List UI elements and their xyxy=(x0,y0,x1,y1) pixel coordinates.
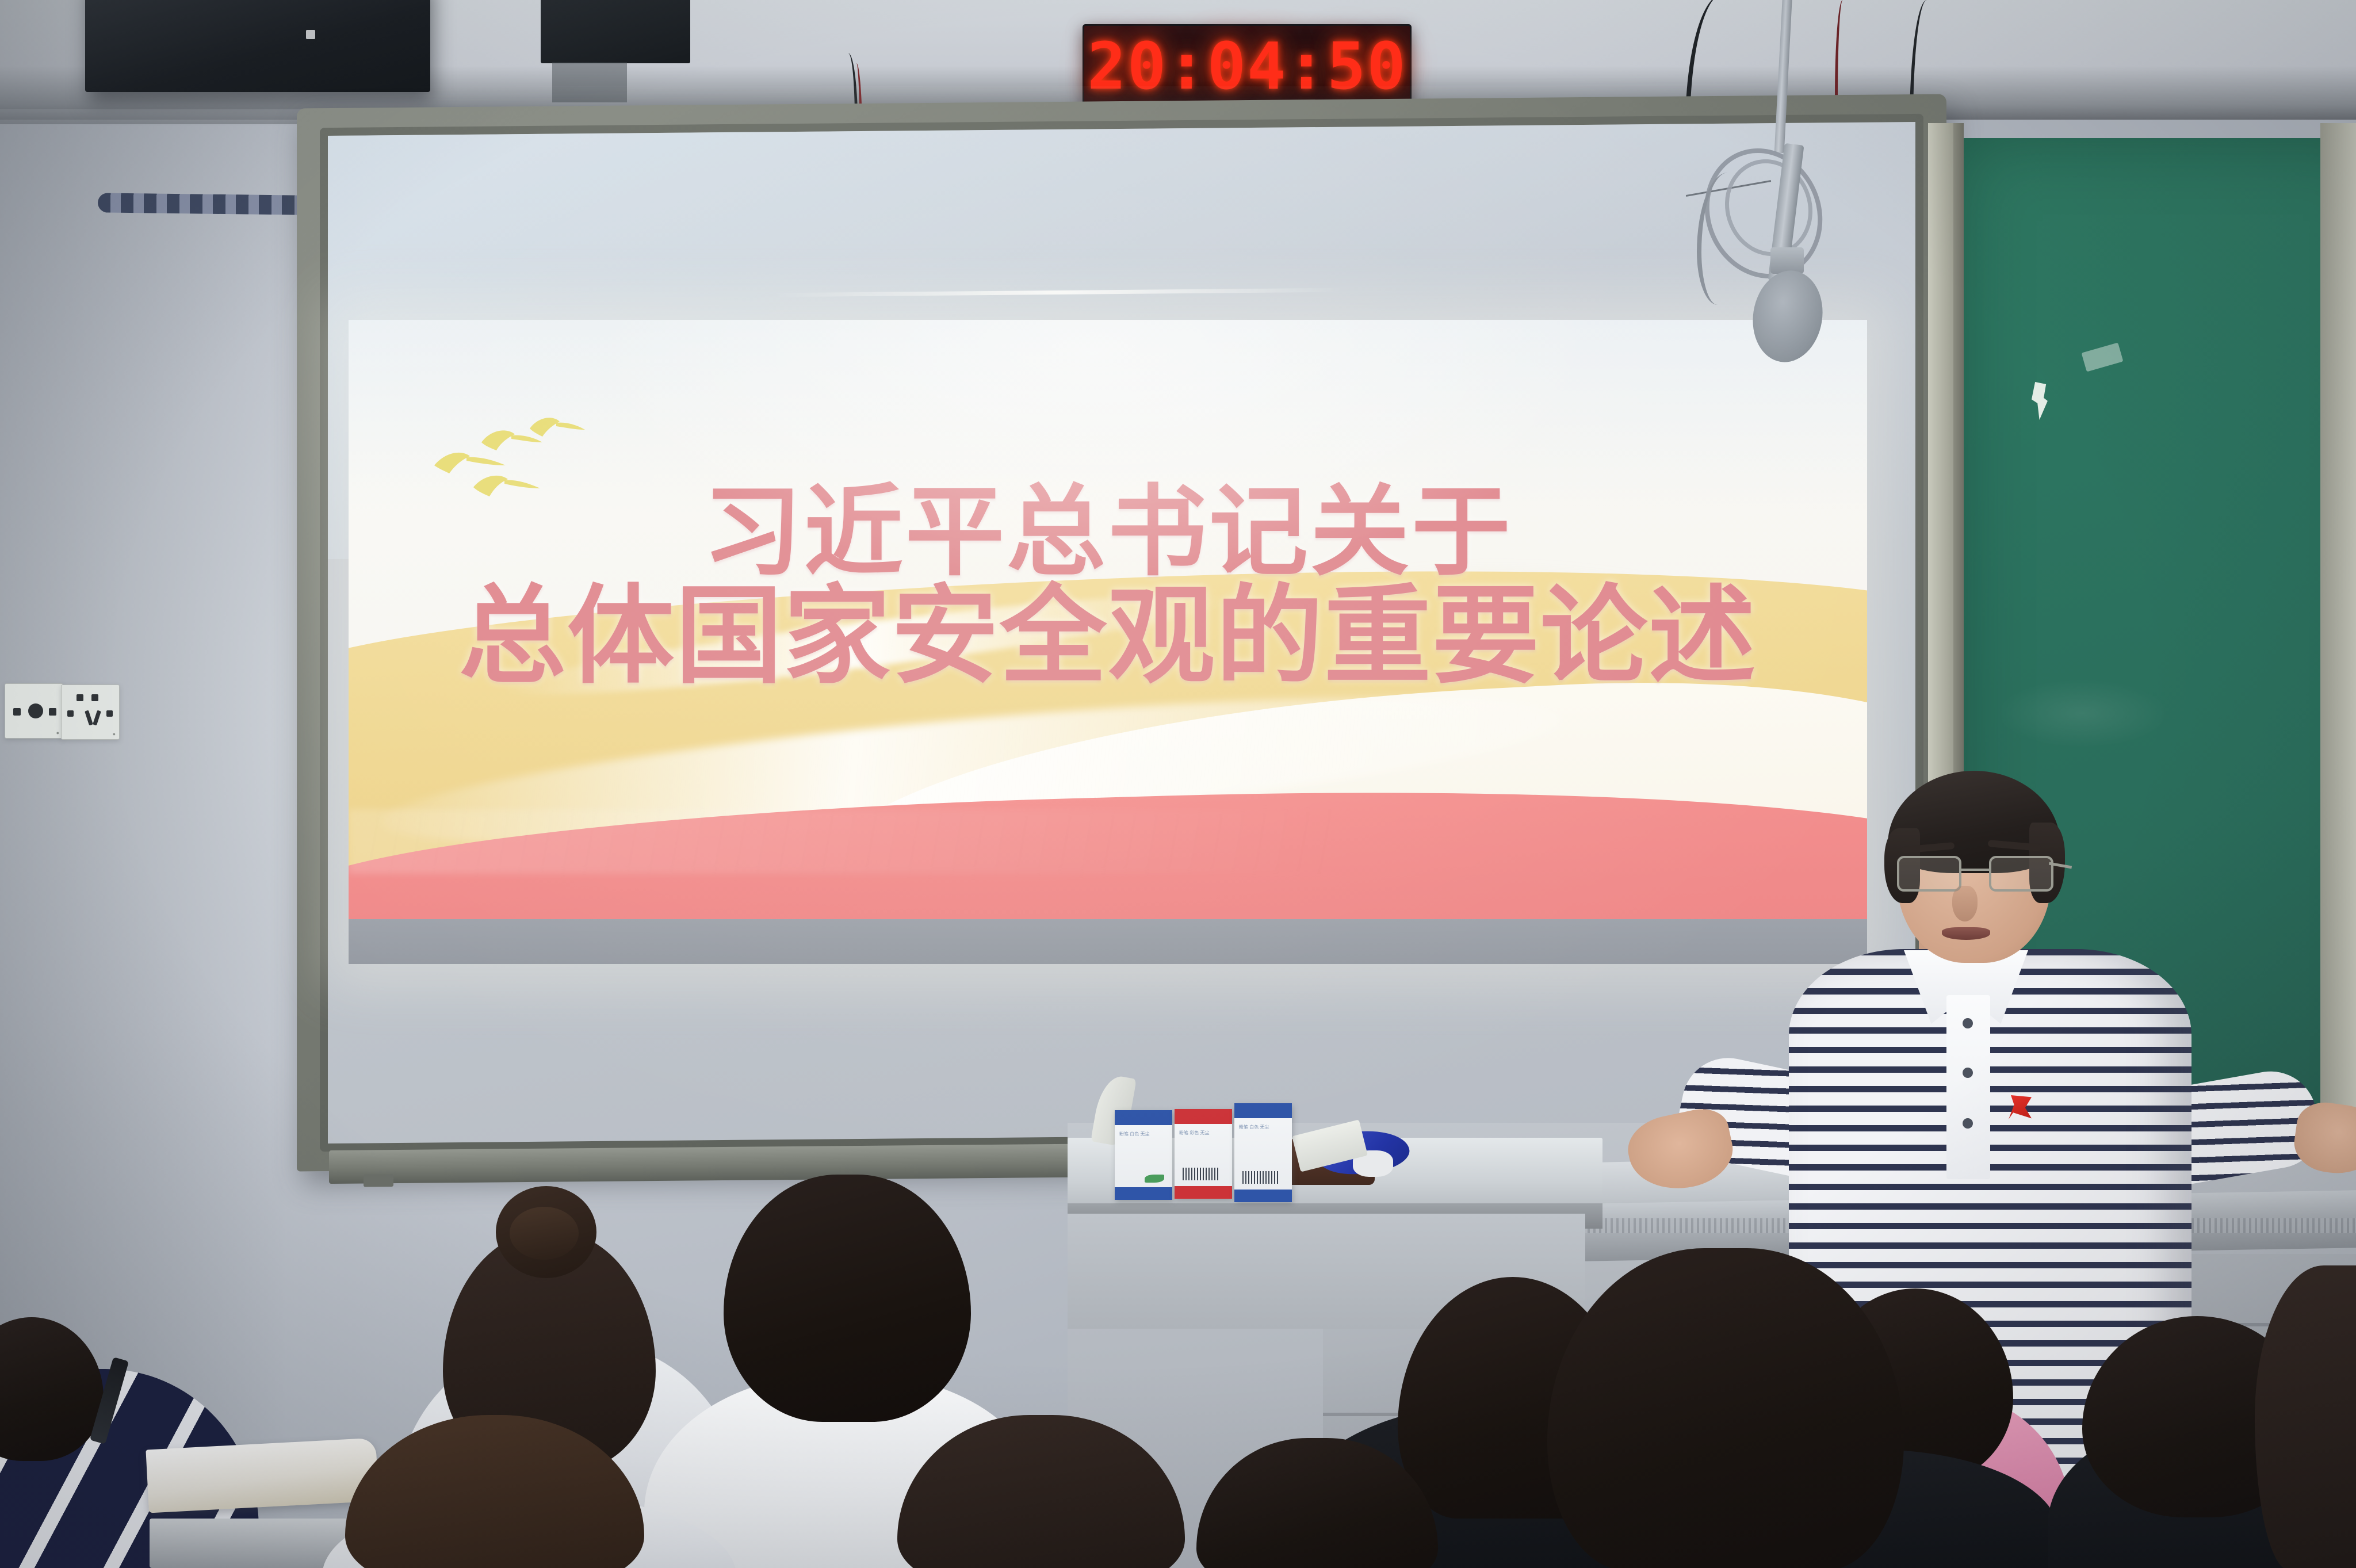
slide-title-line-1: 习近平总书记关于 xyxy=(349,481,1867,584)
projected-slide: 习近平总书记关于 总体国家安全观的重要论述 xyxy=(349,320,1867,964)
slide-letterbox-bottom xyxy=(349,919,1867,964)
chalk-box-band xyxy=(1234,1103,1292,1118)
chalk-box-label: 粉笔 白色 无尘 xyxy=(1119,1131,1168,1138)
chalk-box-band xyxy=(1175,1186,1232,1199)
chalk-box-label: 粉笔 白色 无尘 xyxy=(1239,1124,1287,1131)
barcode-icon xyxy=(1183,1168,1218,1180)
wall-speaker xyxy=(85,0,430,92)
slide-title: 习近平总书记关于 总体国家安全观的重要论述 xyxy=(349,481,1867,691)
socket-brand-label: ● xyxy=(56,730,59,736)
chalk-box[interactable]: 粉笔 彩色 无尘 xyxy=(1175,1109,1232,1199)
chalk-box-band xyxy=(1115,1187,1172,1200)
socket-hole xyxy=(67,710,74,717)
open-notebook[interactable] xyxy=(146,1438,378,1513)
shirt-button xyxy=(1963,1018,1973,1028)
socket-hole xyxy=(49,708,56,716)
glasses-lens-right xyxy=(1989,856,2053,892)
chalk-box-band xyxy=(1175,1109,1232,1124)
tray-clip xyxy=(364,1174,393,1187)
shirt-button xyxy=(1963,1118,1973,1129)
slide-title-line-2: 总体国家安全观的重要论述 xyxy=(349,580,1867,691)
dove-icon xyxy=(529,416,586,442)
socket-hole-round xyxy=(28,703,43,718)
socket-brand-label: ● xyxy=(113,731,116,737)
wall-socket-plate[interactable]: ● xyxy=(61,684,120,740)
shirt-button xyxy=(1963,1068,1973,1078)
lecturer-mouth xyxy=(1942,927,1990,940)
student-head xyxy=(1547,1248,1904,1568)
lecturer-nose xyxy=(1952,886,1978,921)
slide-pink-sheen xyxy=(349,809,1867,874)
socket-hole-slot xyxy=(85,710,93,726)
speaker-bracket xyxy=(552,62,627,102)
clock-time-display: 20:04:50 xyxy=(1087,29,1406,104)
chalk-box-band xyxy=(1234,1190,1292,1202)
chalk-box-label: 粉笔 彩色 无尘 xyxy=(1179,1130,1227,1137)
chalk-box[interactable]: 粉笔 白色 无尘 xyxy=(1115,1110,1172,1200)
wall-socket-plate[interactable]: ● xyxy=(5,683,63,739)
wall-speaker-secondary xyxy=(541,0,690,63)
socket-hole xyxy=(13,708,21,716)
microphone-joint xyxy=(1770,247,1804,274)
classroom-photo: 20:04:50 xyxy=(0,0,2356,1568)
eco-label-icon xyxy=(1145,1175,1164,1183)
chalk-box[interactable]: 粉笔 白色 无尘 xyxy=(1234,1103,1292,1202)
glasses-lens-left xyxy=(1897,856,1961,892)
chalk-smudge xyxy=(1996,679,2168,748)
glasses-icon xyxy=(1894,856,2057,894)
socket-hole xyxy=(77,694,83,701)
student-hair-bun-inner xyxy=(510,1207,579,1260)
socket-hole xyxy=(91,694,98,701)
socket-hole-slot xyxy=(93,710,101,726)
led-wall-clock: 20:04:50 xyxy=(1083,24,1412,109)
chalk-box-band xyxy=(1115,1110,1172,1125)
barcode-icon xyxy=(1242,1171,1278,1184)
speaker-led-indicator xyxy=(306,30,315,39)
student-head xyxy=(724,1175,971,1422)
glasses-bridge xyxy=(1961,869,1989,871)
socket-hole xyxy=(106,710,113,717)
